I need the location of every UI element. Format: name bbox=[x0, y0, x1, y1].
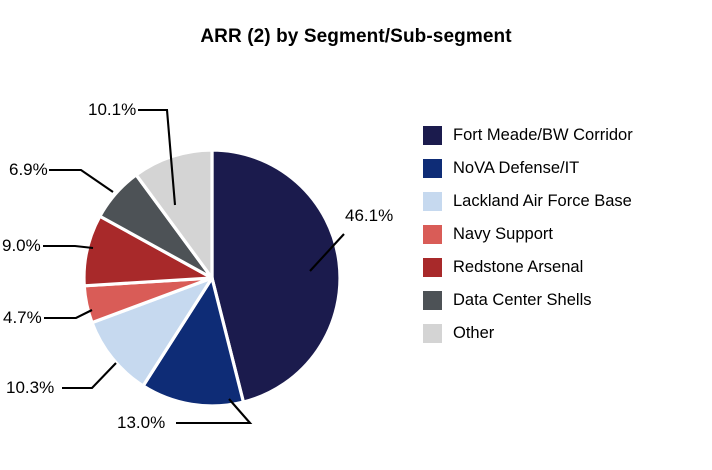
legend-item-label: Redstone Arsenal bbox=[453, 259, 583, 276]
legend-color-swatch bbox=[423, 225, 442, 244]
legend-color-swatch bbox=[423, 159, 442, 178]
legend-color-swatch bbox=[423, 126, 442, 145]
legend-color-swatch bbox=[423, 291, 442, 310]
value-label-navy: 4.7% bbox=[3, 309, 42, 326]
legend-item-label: Data Center Shells bbox=[453, 292, 592, 309]
legend-item[interactable]: Data Center Shells bbox=[423, 284, 703, 317]
value-label-redstone: 9.0% bbox=[2, 237, 41, 254]
legend-item-label: Lackland Air Force Base bbox=[453, 193, 632, 210]
pie-chart-figure: ARR (2) by Segment/Sub-segment 46.1% 13.… bbox=[0, 0, 712, 470]
legend-item-label: Navy Support bbox=[453, 226, 553, 243]
legend-item[interactable]: Navy Support bbox=[423, 218, 703, 251]
leader-line-data-center bbox=[49, 170, 113, 192]
legend-item[interactable]: Lackland Air Force Base bbox=[423, 185, 703, 218]
pie-slices-group bbox=[84, 150, 340, 406]
legend-item-label: Other bbox=[453, 325, 494, 342]
leader-line-navy bbox=[44, 310, 92, 318]
leader-line-lackland bbox=[62, 363, 116, 388]
leader-line-redstone bbox=[43, 246, 93, 248]
legend-item[interactable]: NoVA Defense/IT bbox=[423, 152, 703, 185]
legend-item-label: NoVA Defense/IT bbox=[453, 160, 579, 177]
value-label-fort-meade: 46.1% bbox=[345, 207, 393, 224]
value-label-data-center: 6.9% bbox=[9, 161, 48, 178]
legend: Fort Meade/BW CorridorNoVA Defense/ITLac… bbox=[423, 119, 703, 350]
legend-color-swatch bbox=[423, 192, 442, 211]
value-label-lackland: 10.3% bbox=[6, 379, 54, 396]
legend-color-swatch bbox=[423, 324, 442, 343]
legend-item[interactable]: Other bbox=[423, 317, 703, 350]
legend-item[interactable]: Redstone Arsenal bbox=[423, 251, 703, 284]
legend-item[interactable]: Fort Meade/BW Corridor bbox=[423, 119, 703, 152]
value-label-other: 10.1% bbox=[88, 101, 136, 118]
legend-color-swatch bbox=[423, 258, 442, 277]
value-label-nova: 13.0% bbox=[117, 414, 165, 431]
legend-item-label: Fort Meade/BW Corridor bbox=[453, 127, 633, 144]
